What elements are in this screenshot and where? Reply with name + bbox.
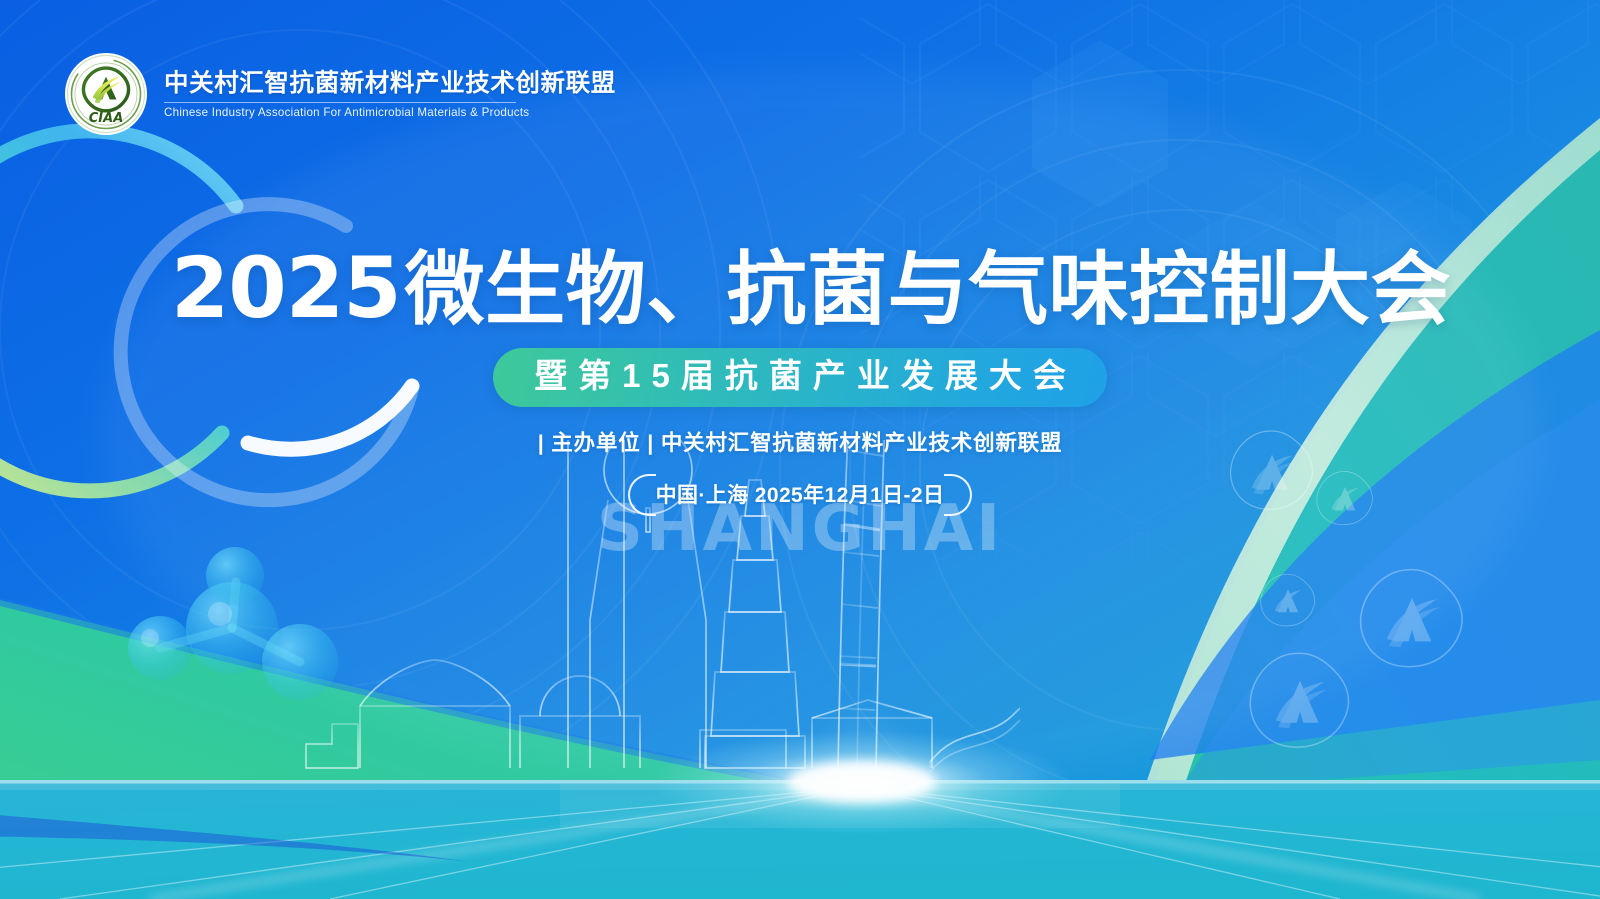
association-name-cn: 中关村汇智抗菌新材料产业技术创新联盟: [164, 70, 616, 97]
brand-lockup: CIAA 中关村汇智抗菌新材料产业技术创新联盟 Chinese Industry…: [64, 52, 616, 136]
brand-text-block: 中关村汇智抗菌新材料产业技术创新联盟 Chinese Industry Asso…: [164, 68, 616, 120]
brand-divider: [164, 102, 516, 103]
association-name-en: Chinese Industry Association For Antimic…: [164, 107, 616, 120]
conference-banner: CIAA 中关村汇智抗菌新材料产业技术创新联盟 Chinese Industry…: [0, 0, 1600, 899]
ciaa-circular-emblem-icon: CIAA: [64, 52, 148, 136]
logo-acronym-text: CIAA: [89, 111, 124, 126]
